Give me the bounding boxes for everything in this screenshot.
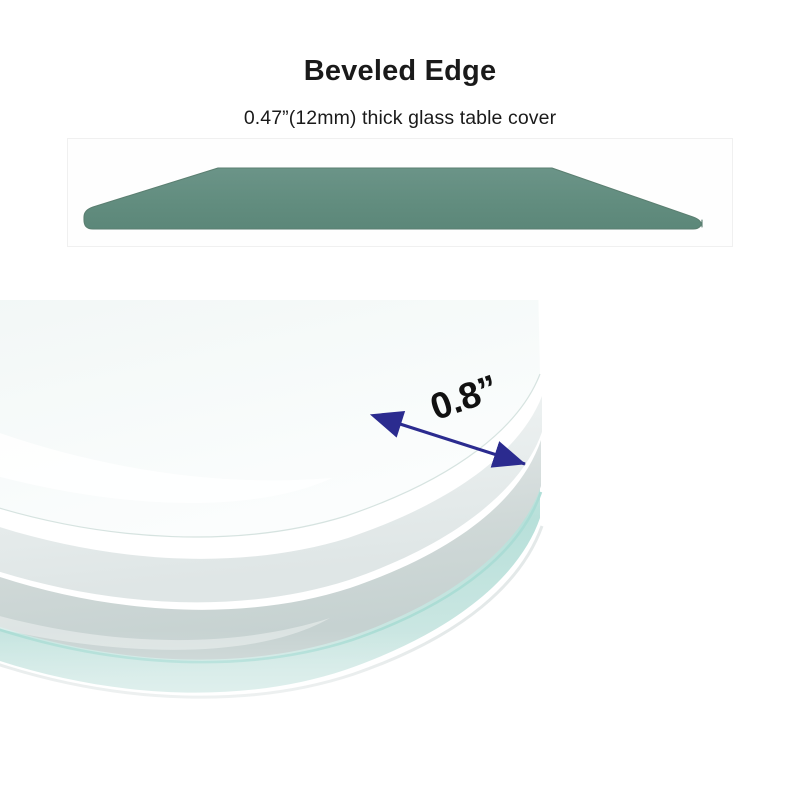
page-subtitle: 0.47”(12mm) thick glass table cover bbox=[0, 107, 800, 129]
product-image-canvas: Beveled Edge 0.47”(12mm) thick glass tab… bbox=[0, 0, 800, 800]
glass-table-cover-illustration bbox=[0, 300, 580, 780]
bottom-fade-overlay bbox=[0, 630, 580, 780]
bevel-width-arrow-line bbox=[400, 424, 525, 464]
page-title: Beveled Edge bbox=[0, 56, 800, 88]
beveled-edge-profile-diagram bbox=[68, 139, 732, 246]
bevel-profile-shape bbox=[84, 168, 702, 229]
